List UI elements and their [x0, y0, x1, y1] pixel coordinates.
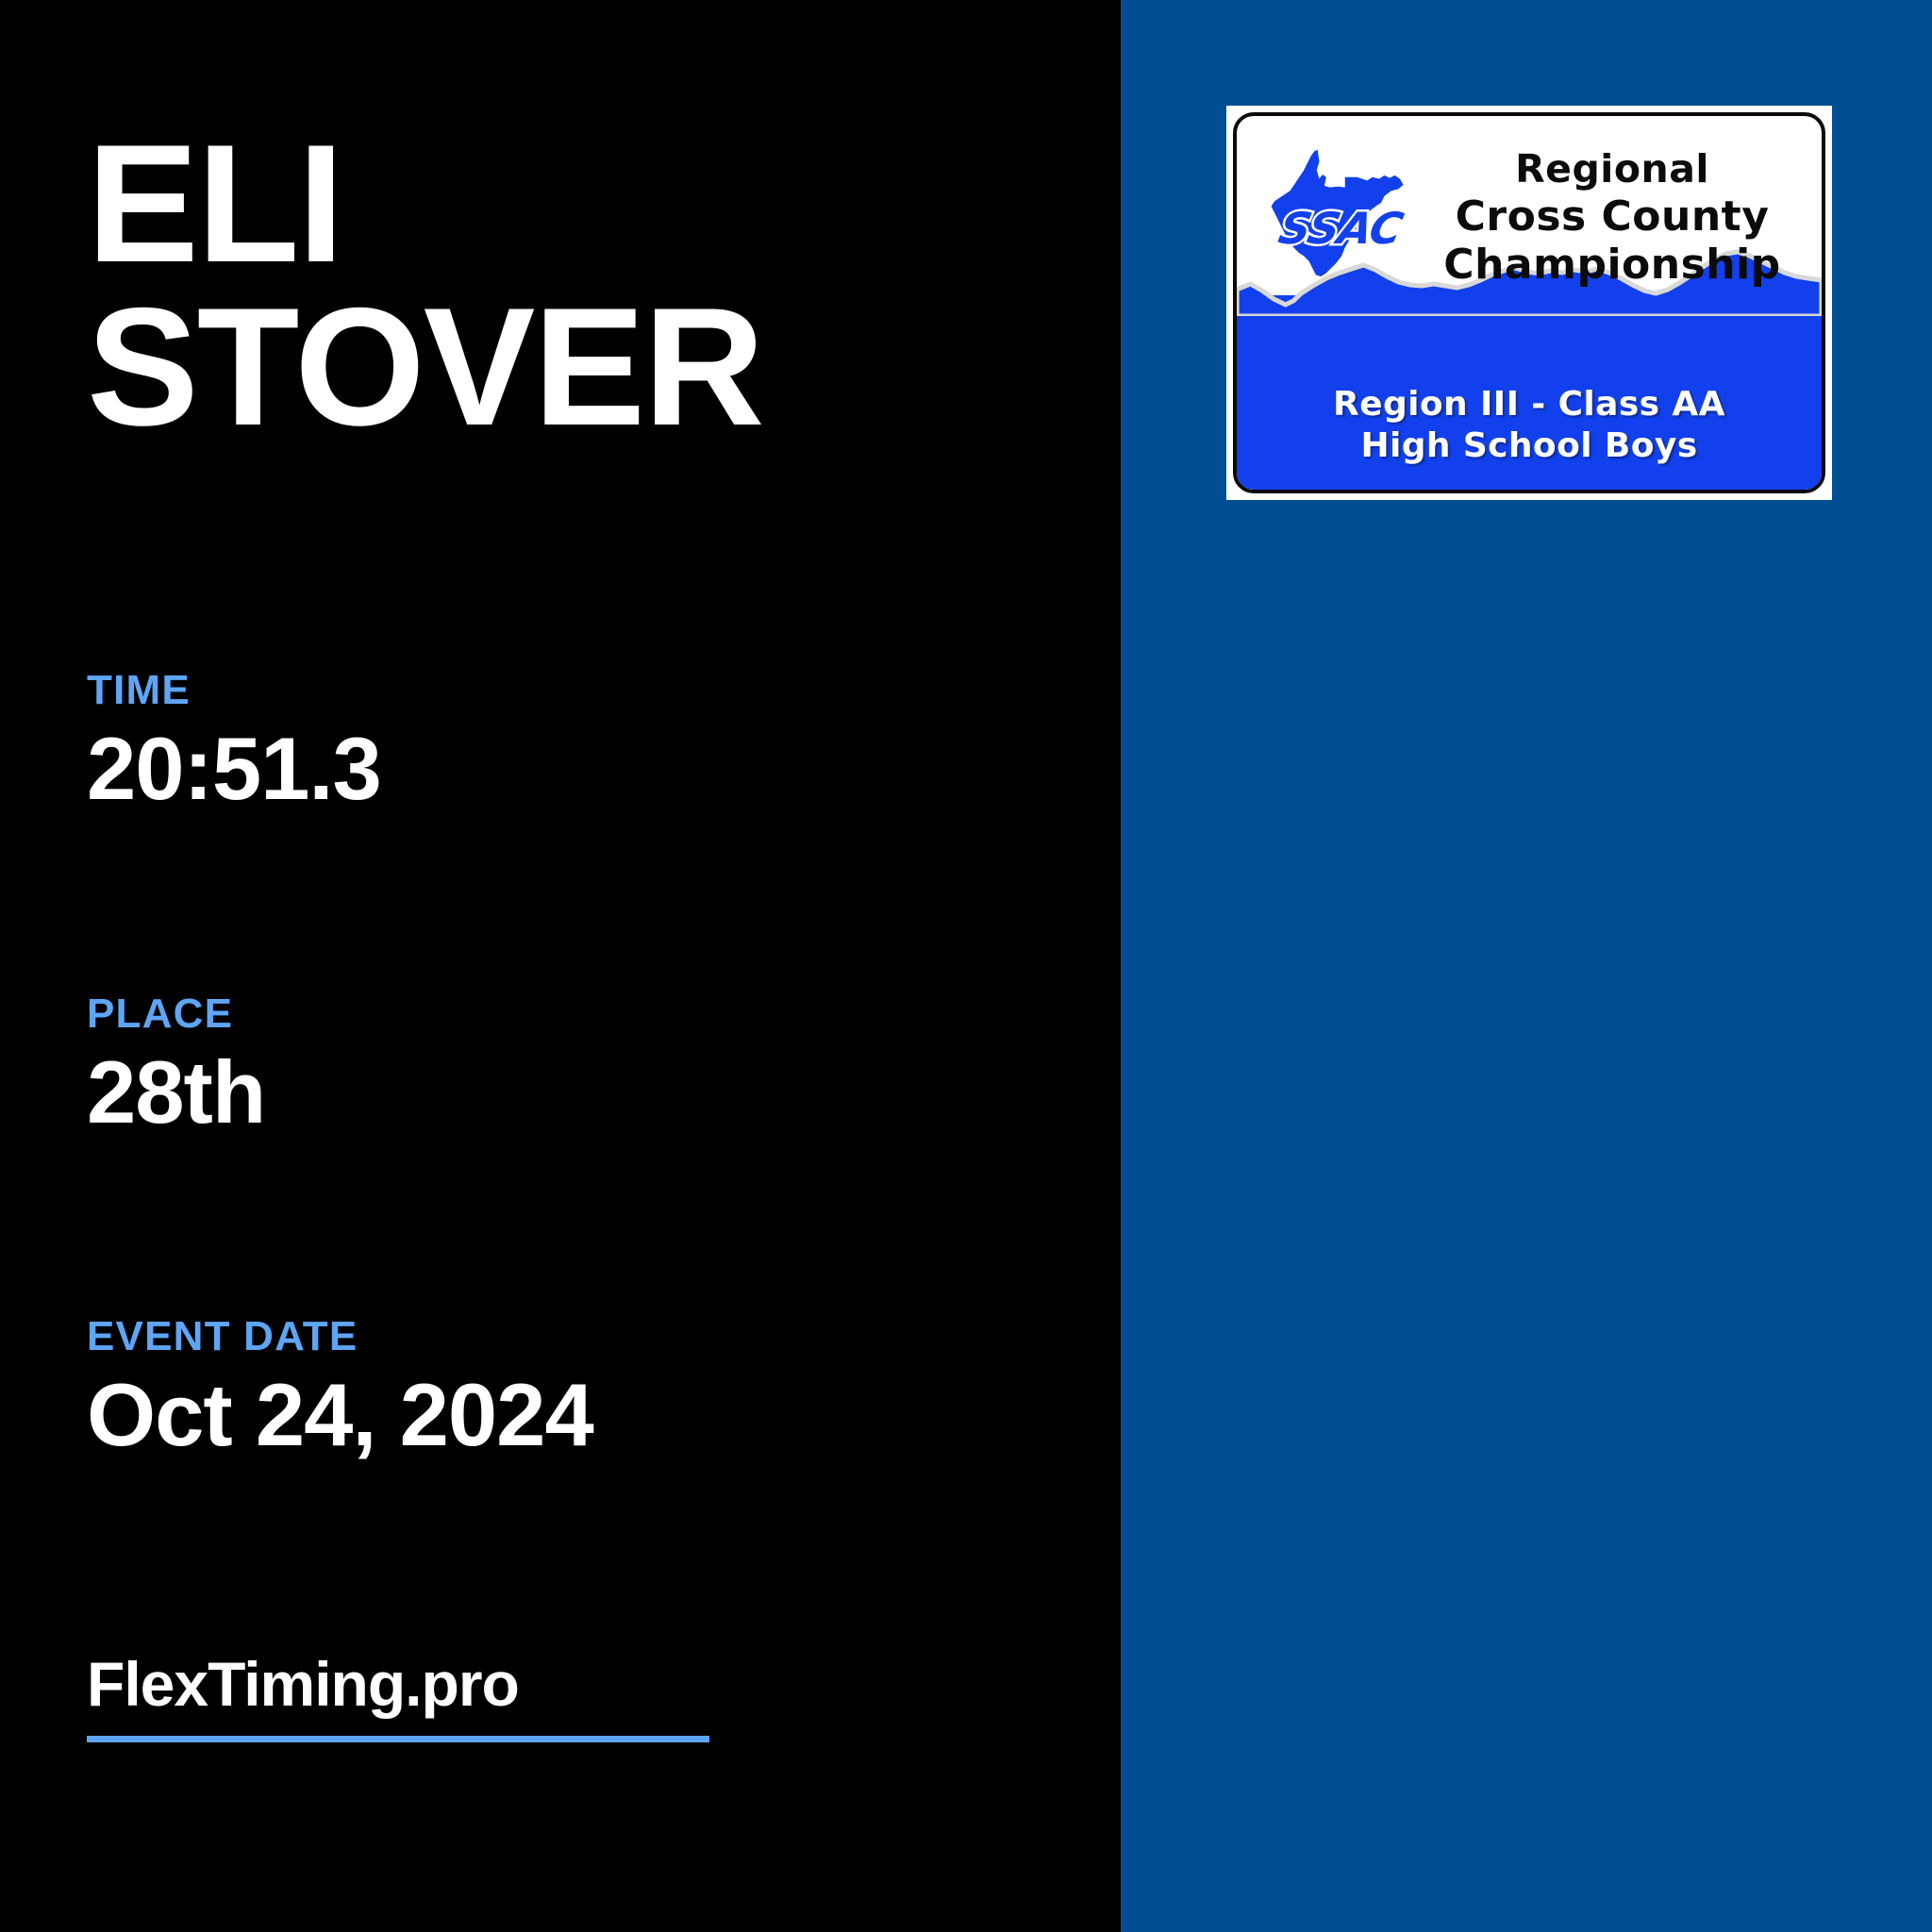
stat-event-date: EVENT DATE Oct 24, 2024	[87, 1316, 593, 1462]
event-title: Regional Cross County Championship	[1412, 147, 1807, 289]
ssac-wordmark: SSAC	[1256, 203, 1424, 254]
brand-name: FlexTiming.pro	[87, 1653, 709, 1715]
event-title-line-3: Championship	[1418, 241, 1807, 289]
stat-place: PLACE 28th	[87, 993, 265, 1140]
event-division-banner: Region III - Class AA High School Boys	[1237, 384, 1822, 467]
athlete-last-name: STOVER	[87, 286, 1077, 449]
page-title: ELI STOVER	[87, 123, 1077, 448]
result-card: ELI STOVER TIME 20:51.3 PLACE 28th EVENT…	[0, 0, 1932, 1932]
stat-time: TIME 20:51.3	[87, 670, 381, 816]
athlete-first-name: ELI	[87, 123, 1077, 286]
stat-event-date-value: Oct 24, 2024	[87, 1369, 593, 1462]
left-content-panel: ELI STOVER TIME 20:51.3 PLACE 28th EVENT…	[0, 0, 1121, 1932]
event-title-line-2: Cross County	[1418, 192, 1807, 241]
stat-place-value: 28th	[87, 1046, 265, 1140]
brand-logo[interactable]: FlexTiming.pro	[87, 1653, 709, 1742]
stat-place-label: PLACE	[87, 993, 265, 1035]
event-logo-frame: SSAC Regional Cross County Championship …	[1233, 112, 1825, 493]
west-virginia-state-icon: SSAC	[1254, 146, 1412, 288]
event-division-line-2: High School Boys	[1237, 425, 1822, 467]
logo-top-section: SSAC Regional Cross County Championship	[1237, 116, 1822, 310]
event-title-line-1: Regional	[1418, 147, 1807, 192]
event-logo-card: SSAC Regional Cross County Championship …	[1226, 106, 1832, 500]
stat-event-date-label: EVENT DATE	[87, 1316, 593, 1357]
event-division-line-1: Region III - Class AA	[1237, 384, 1822, 425]
stat-time-label: TIME	[87, 670, 381, 711]
stat-time-value: 20:51.3	[87, 723, 381, 816]
brand-underline	[87, 1736, 709, 1742]
